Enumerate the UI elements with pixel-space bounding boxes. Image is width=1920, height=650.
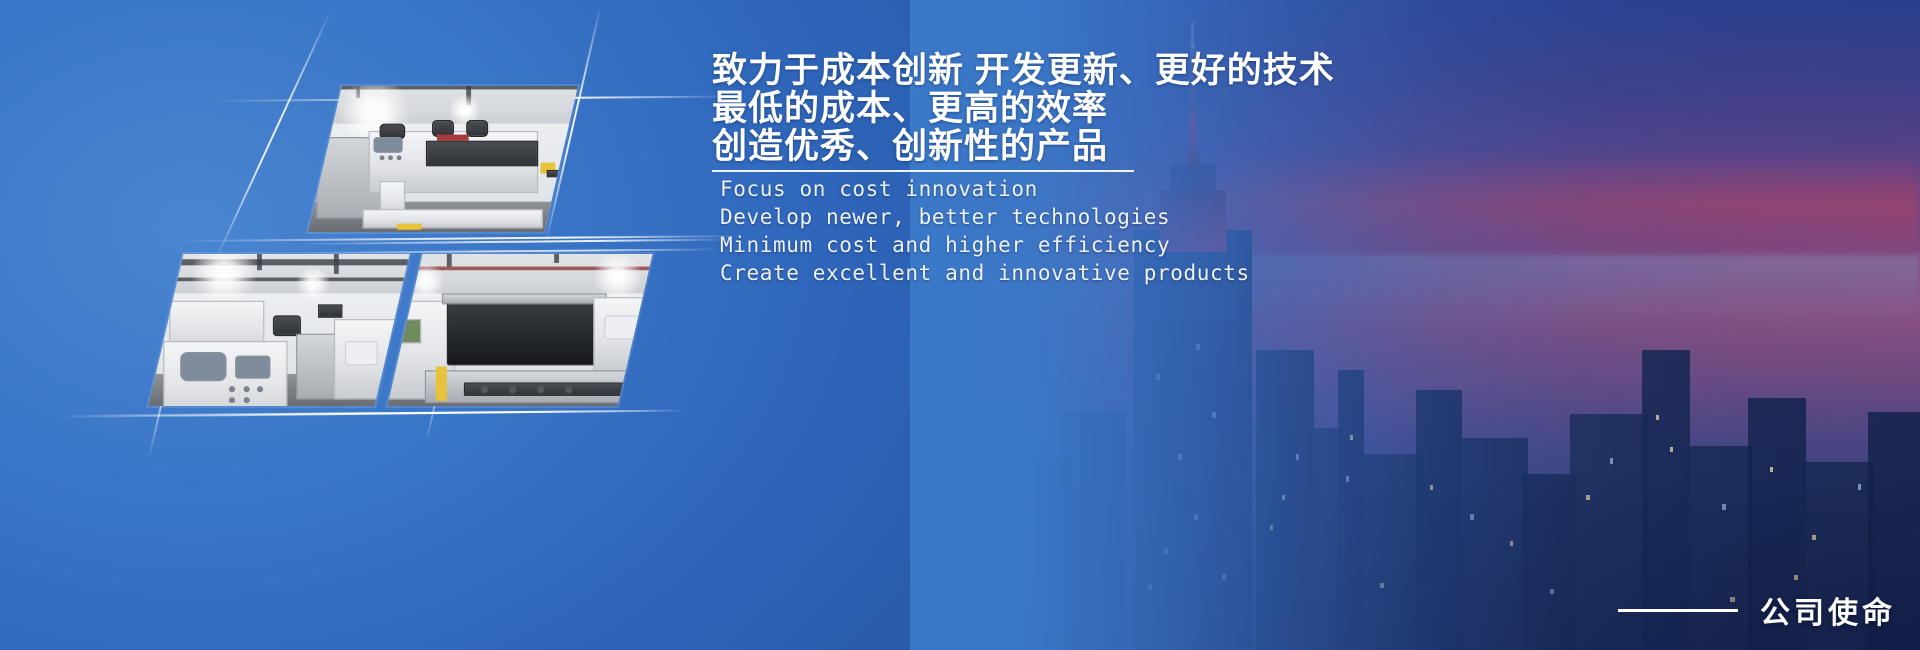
subtitle-block: Focus on cost innovation Develop newer, …: [720, 175, 1250, 287]
photo-roll-feeder-machine: [387, 254, 652, 406]
subtitle-line-4: Create excellent and innovative products: [720, 259, 1250, 287]
photo-control-console: [148, 254, 409, 406]
headline-line-2: 最低的成本、更高的效率: [712, 90, 1412, 128]
subtitle-line-2: Develop newer, better technologies: [720, 203, 1250, 231]
headline-underline: [712, 170, 1134, 172]
mission-tag: 公司使命: [1618, 588, 1896, 632]
mission-label: 公司使命: [1760, 588, 1896, 632]
subtitle-line-3: Minimum cost and higher efficiency: [720, 231, 1250, 259]
company-mission-banner: 致力于成本创新 开发更新、更好的技术 最低的成本、更高的效率 创造优秀、创新性的…: [0, 0, 1920, 650]
photo-collage: [0, 0, 720, 500]
headline-line-3: 创造优秀、创新性的产品: [712, 128, 1412, 166]
headline-block: 致力于成本创新 开发更新、更好的技术 最低的成本、更高的效率 创造优秀、创新性的…: [712, 52, 1412, 172]
subtitle-line-1: Focus on cost innovation: [720, 175, 1250, 203]
photo-flexo-printing-machine: [308, 86, 578, 232]
mission-rule: [1618, 609, 1738, 612]
headline-line-1: 致力于成本创新 开发更新、更好的技术: [712, 52, 1412, 90]
